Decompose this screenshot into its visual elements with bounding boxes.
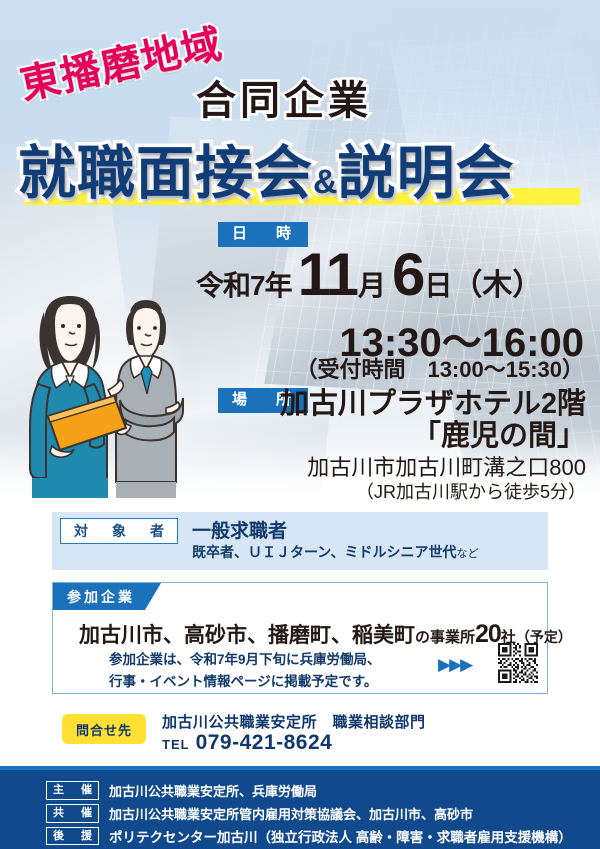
tel-label: TEL bbox=[162, 737, 190, 752]
target-audience-band: 対 象 者 一般求職者 既卒者、ＵＩＪターン、ミドルシニア世代など bbox=[52, 512, 548, 570]
main-title: 就職面接会&説明会 bbox=[18, 126, 515, 210]
date-day-of-week: （木） bbox=[452, 260, 542, 304]
date-era: 令和7年 bbox=[196, 264, 292, 304]
triple-arrow-icon: ▶▶▶ bbox=[438, 655, 471, 675]
target-audience-sub-etc: など bbox=[456, 548, 478, 560]
datetime-label: 日 時 bbox=[218, 222, 308, 247]
footer-top-accent-bar bbox=[0, 766, 600, 770]
date-day-number: 6 bbox=[392, 248, 423, 302]
main-title-ampersand: & bbox=[313, 163, 338, 201]
contact-label: 問合せ先 bbox=[62, 714, 146, 744]
venue-name-line2: 「鹿児の間」 bbox=[412, 412, 600, 454]
date-month-number: 11 bbox=[298, 248, 357, 302]
footer-text-koen: ポリテクセンター加古川（独立行政法人 高齢・障害・求職者雇用支援機構） bbox=[109, 826, 572, 846]
date-day-unit: 日 bbox=[424, 264, 452, 304]
footer-row-support: 後 援 ポリテクセンター加古川（独立行政法人 高齢・障害・求職者雇用支援機構） bbox=[46, 826, 572, 846]
target-audience-label: 対 象 者 bbox=[60, 518, 178, 544]
footer-label-shusai: 主 催 bbox=[46, 781, 99, 799]
target-audience-sub: 既卒者、ＵＩＪターン、ミドルシニア世代など bbox=[192, 542, 478, 562]
tel-number: 079-421-8624 bbox=[196, 731, 333, 755]
companies-count: 20 bbox=[475, 620, 501, 649]
qr-code-icon[interactable] bbox=[498, 643, 538, 683]
companies-mid: の事業所 bbox=[415, 626, 475, 647]
contact-telephone[interactable]: TEL 079-421-8624 bbox=[162, 731, 332, 755]
footer-organizers: 主 催 加古川公共職業安定所、兵庫労働局 共 催 加古川公共職業安定所管内雇用対… bbox=[0, 766, 600, 849]
people-illustration bbox=[8, 268, 204, 503]
footer-label-kyosai: 共 催 bbox=[46, 804, 99, 822]
footer-label-koen: 後 援 bbox=[46, 827, 99, 845]
woman-figure bbox=[30, 296, 126, 498]
companies-note-line2: 行事・イベント情報ページに掲載予定です。 bbox=[109, 671, 381, 693]
date-line: 令和7年 11 月 6 日 （木） bbox=[196, 248, 542, 304]
participating-companies-box: 参加企業 加古川市、高砂市、播磨町、稲美町 の事業所 20 社 （予定） 参加企… bbox=[52, 582, 548, 694]
target-audience-main: 一般求職者 bbox=[192, 516, 287, 543]
poster-root: 東播磨地域 合同企業 就職面接会&説明会 bbox=[0, 0, 600, 849]
footer-text-kyosai: 加古川公共職業安定所管内雇用対策協議会、加古川市、高砂市 bbox=[109, 804, 473, 823]
participating-companies-tab: 参加企業 bbox=[53, 583, 161, 610]
companies-cities: 加古川市、高砂市、播磨町、稲美町 bbox=[79, 619, 415, 649]
venue-access: （JR加古川駅から徒歩5分） bbox=[356, 478, 600, 504]
main-title-wrap: 就職面接会&説明会 bbox=[18, 126, 515, 210]
participating-companies-note: 参加企業は、令和7年9月下旬に兵庫労働局、 行事・イベント情報ページに掲載予定で… bbox=[109, 649, 381, 694]
datetime-label-row: 日 時 bbox=[218, 222, 308, 247]
footer-row-coorganizer: 共 催 加古川公共職業安定所管内雇用対策協議会、加古川市、高砂市 bbox=[46, 804, 473, 823]
companies-note-line1: 参加企業は、令和7年9月下旬に兵庫労働局、 bbox=[109, 649, 381, 671]
main-title-part2: 説明会 bbox=[338, 141, 515, 206]
target-audience-sub-text: 既卒者、ＵＩＪターン、ミドルシニア世代 bbox=[192, 544, 456, 560]
footer-text-shusai: 加古川公共職業安定所、兵庫労働局 bbox=[109, 781, 317, 800]
date-month-unit: 月 bbox=[358, 264, 386, 304]
man-figure bbox=[116, 300, 183, 498]
contact-office-name: 加古川公共職業安定所 職業相談部門 bbox=[162, 711, 426, 732]
footer-row-organizer: 主 催 加古川公共職業安定所、兵庫労働局 bbox=[46, 781, 317, 800]
two-business-people-svg bbox=[8, 268, 204, 498]
event-subtitle: 合同企業 bbox=[196, 68, 372, 126]
main-title-part1: 就職面接会 bbox=[18, 141, 313, 206]
